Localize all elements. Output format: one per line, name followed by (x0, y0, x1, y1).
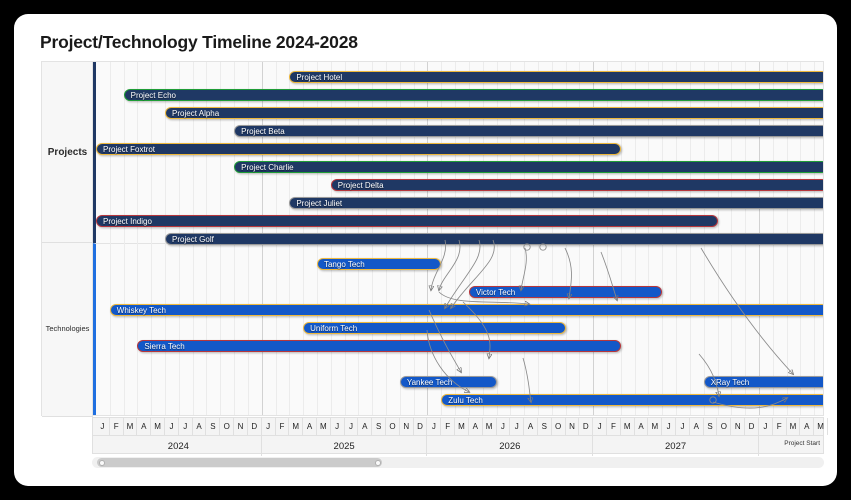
month-tick: N (234, 418, 248, 435)
gantt-bar-label: Project Foxtrot (97, 145, 155, 154)
month-tick: M (621, 418, 635, 435)
gantt-bar[interactable]: Tango Tech (317, 258, 441, 270)
month-tick: S (704, 418, 718, 435)
month-tick: D (745, 418, 759, 435)
gantt-bar[interactable]: Project Beta (234, 125, 824, 137)
month-tick: O (220, 418, 234, 435)
month-tick: F (110, 418, 124, 435)
month-tick: A (303, 418, 317, 435)
month-tick: M (648, 418, 662, 435)
category-axis: Category ProjectsTechnologies (41, 61, 92, 416)
gantt-bar[interactable]: Project Golf (165, 233, 824, 245)
gantt-bar-label: Project Echo (125, 91, 176, 100)
gantt-bar[interactable]: Project Delta (331, 179, 824, 191)
month-tick: A (137, 418, 151, 435)
month-tick: M (151, 418, 165, 435)
gantt-bar-label: XRay Tech (705, 378, 750, 387)
month-tick: F (607, 418, 621, 435)
month-tick: A (800, 418, 814, 435)
month-tick: J (96, 418, 110, 435)
month-tick: J (345, 418, 359, 435)
gantt-bar[interactable]: Yankee Tech (400, 376, 497, 388)
month-tick: M (814, 418, 828, 435)
month-tick: O (718, 418, 732, 435)
month-tick: J (510, 418, 524, 435)
month-tick: N (731, 418, 745, 435)
month-tick: M (455, 418, 469, 435)
month-tick: N (400, 418, 414, 435)
year-tick: 2026 (427, 436, 593, 456)
gantt-bar-label: Project Indigo (97, 217, 152, 226)
month-tick: S (372, 418, 386, 435)
month-tick: J (497, 418, 511, 435)
month-tick: M (483, 418, 497, 435)
gantt-bar-label: Uniform Tech (304, 324, 357, 333)
timeline-card: Project/Technology Timeline 2024-2028 Ca… (14, 14, 837, 486)
gantt-bar-label: Project Alpha (166, 109, 219, 118)
horizontal-scrollbar[interactable] (92, 457, 824, 468)
month-ticks: JFMAMJJASONDJFMAMJJASONDJFMAMJJASONDJFMA… (93, 418, 823, 435)
gantt-bar[interactable]: Project Echo (124, 89, 824, 101)
month-tick: F (276, 418, 290, 435)
month-tick: A (469, 418, 483, 435)
gantt-bar-label: Victor Tech (470, 288, 515, 297)
month-tick: J (759, 418, 773, 435)
year-tick: 2024 (96, 436, 262, 456)
month-tick: N (566, 418, 580, 435)
gantt-bar-label: Project Delta (332, 181, 384, 190)
month-tick: A (358, 418, 372, 435)
gantt-bar[interactable]: Project Juliet (289, 197, 824, 209)
month-tick: D (414, 418, 428, 435)
gantt-chart: Category ProjectsTechnologies Project Ho… (41, 61, 824, 468)
gantt-bar-label: Project Beta (235, 127, 285, 136)
gantt-bar[interactable]: Project Indigo (96, 215, 718, 227)
gantt-bar-label: Zulu Tech (442, 396, 483, 405)
gantt-bar-label: Project Charlie (235, 163, 293, 172)
gridline (124, 62, 125, 415)
month-tick: J (165, 418, 179, 435)
month-tick: J (593, 418, 607, 435)
gantt-bar-label: Tango Tech (318, 260, 365, 269)
month-tick: M (317, 418, 331, 435)
gantt-bar[interactable]: Project Foxtrot (96, 143, 621, 155)
month-tick: J (427, 418, 441, 435)
gantt-bar-label: Whiskey Tech (111, 306, 166, 315)
month-tick: F (773, 418, 787, 435)
gridline (110, 62, 111, 415)
plot-area: Project HotelProject EchoProject AlphaPr… (92, 61, 824, 416)
gantt-bar[interactable]: Zulu Tech (441, 394, 824, 406)
year-tick: 2027 (593, 436, 759, 456)
month-tick: A (524, 418, 538, 435)
month-tick: J (331, 418, 345, 435)
scrollbar-thumb[interactable] (97, 458, 382, 467)
year-tick: 2025 (262, 436, 428, 456)
month-tick: D (579, 418, 593, 435)
gridline (137, 62, 138, 415)
month-tick: J (262, 418, 276, 435)
month-tick: F (441, 418, 455, 435)
month-tick: A (193, 418, 207, 435)
gantt-bar[interactable]: Project Alpha (165, 107, 824, 119)
time-axis: JFMAMJJASONDJFMAMJJASONDJFMAMJJASONDJFMA… (92, 417, 824, 454)
scrollbar-left-handle[interactable] (99, 460, 105, 466)
month-tick: J (662, 418, 676, 435)
month-tick: M (289, 418, 303, 435)
month-tick: A (690, 418, 704, 435)
month-tick: O (552, 418, 566, 435)
month-tick: O (386, 418, 400, 435)
gantt-bar[interactable]: Uniform Tech (303, 322, 565, 334)
gantt-bar[interactable]: XRay Tech (704, 376, 824, 388)
month-tick: J (179, 418, 193, 435)
gantt-bar[interactable]: Whiskey Tech (110, 304, 824, 316)
gantt-bar[interactable]: Project Charlie (234, 161, 824, 173)
month-tick: D (248, 418, 262, 435)
scrollbar-right-handle[interactable] (375, 460, 381, 466)
month-tick: A (635, 418, 649, 435)
category-label-projects: Projects (42, 147, 93, 158)
project-start-label: Project Start (784, 440, 820, 447)
year-ticks: 2024202520262027 (93, 435, 823, 455)
month-tick: S (538, 418, 552, 435)
gantt-bar-label: Sierra Tech (138, 342, 184, 351)
month-tick: M (124, 418, 138, 435)
category-label-technologies: Technologies (42, 324, 93, 333)
page-title: Project/Technology Timeline 2024-2028 (40, 32, 358, 53)
gantt-bar[interactable]: Victor Tech (469, 286, 662, 298)
gantt-bar[interactable]: Project Hotel (289, 71, 824, 83)
gantt-bar[interactable]: Sierra Tech (137, 340, 620, 352)
gantt-bar-label: Project Juliet (290, 199, 342, 208)
gantt-bar-label: Project Hotel (290, 73, 342, 82)
month-tick: S (206, 418, 220, 435)
gantt-bar-label: Project Golf (166, 235, 214, 244)
gridline (151, 62, 152, 415)
month-tick: M (787, 418, 801, 435)
gantt-bar-label: Yankee Tech (401, 378, 453, 387)
month-tick: J (676, 418, 690, 435)
